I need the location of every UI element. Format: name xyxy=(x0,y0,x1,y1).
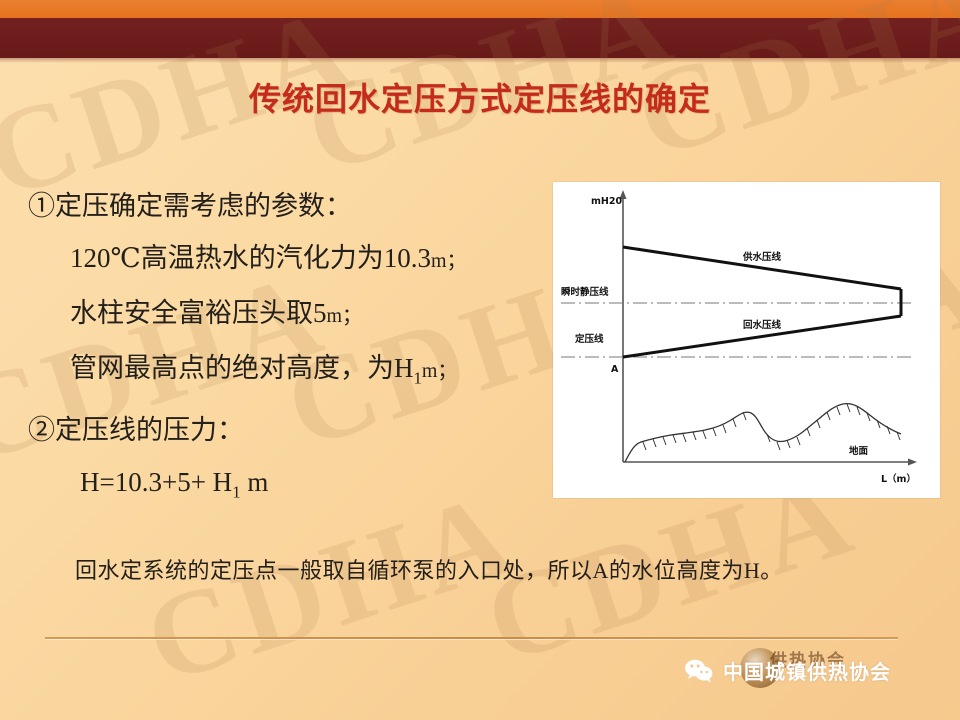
pressure-diagram-svg: mH20 L（m） 瞬时静压线 定压线 供水压线 回水压线 A xyxy=(553,182,940,498)
top-maroon-band xyxy=(0,18,960,58)
content-note: 回水定系统的定压点一般取自循环泵的入口处，所以A的水位高度为H。 xyxy=(75,553,783,585)
ground-hatching xyxy=(643,404,900,450)
content-body: ①定压确定需考虑的参数： 120℃高温热水的汽化力为10.3m； 水柱安全富裕压… xyxy=(28,180,548,519)
content-formula-main: H=10.3+5+ H xyxy=(80,467,232,497)
slide-root: CDHA CDHA CDHA CDHA CDHA CDHA CDHA CDHA … xyxy=(0,0,960,720)
content-formula-subscript: 1 xyxy=(232,483,240,502)
pressure-diagram-figure: mH20 L（m） 瞬时静压线 定压线 供水压线 回水压线 A xyxy=(553,182,940,498)
content-item-1-sub-3: 管网最高点的绝对高度，为H1m； xyxy=(28,342,548,404)
y-axis-label: mH20 xyxy=(591,196,622,207)
content-item-1-sub-1-unit: m； xyxy=(431,250,467,272)
content-item-1-sub-2-unit: m； xyxy=(327,305,363,327)
footer-org-name: 中国城镇供热协会 xyxy=(723,656,891,685)
x-axis-arrow xyxy=(908,459,917,466)
content-formula: H=10.3+5+ H1 m xyxy=(28,456,548,518)
content-formula-unit: m xyxy=(241,467,269,497)
content-item-1-sub-3-subscript: 1 xyxy=(414,368,422,387)
content-item-1-sub-2-text: 水柱安全富裕压头取5 xyxy=(70,298,327,328)
wechat-icon xyxy=(684,658,714,684)
return-pressure-label: 回水压线 xyxy=(743,319,782,331)
content-item-2: ②定压线的压力： xyxy=(28,404,548,456)
content-item-1: ①定压确定需考虑的参数： xyxy=(28,180,548,232)
supply-pressure-label: 供水压线 xyxy=(742,251,782,263)
content-item-1-sub-1: 120℃高温热水的汽化力为10.3m； xyxy=(28,232,548,287)
top-orange-band xyxy=(0,0,960,18)
content-item-1-sub-3-text: 管网最高点的绝对高度，为H xyxy=(70,353,414,383)
content-item-1-sub-1-text: 120℃高温热水的汽化力为10.3 xyxy=(70,243,431,273)
page-title: 传统回水定压方式定压线的确定 xyxy=(0,74,960,120)
point-a-label: A xyxy=(611,364,619,375)
content-item-1-sub-3-unit: m； xyxy=(422,360,458,382)
content-item-1-sub-2: 水柱安全富裕压头取5m； xyxy=(28,287,548,342)
footer-branding: 中国城镇供热协会 xyxy=(684,656,891,685)
band-shadow xyxy=(0,58,960,63)
instantaneous-static-pressure-label: 瞬时静压线 xyxy=(561,286,609,298)
constant-pressure-label: 定压线 xyxy=(574,333,604,345)
x-axis-label: L（m） xyxy=(881,473,916,485)
ground-label: 地面 xyxy=(849,445,869,457)
footer-divider xyxy=(45,637,898,639)
